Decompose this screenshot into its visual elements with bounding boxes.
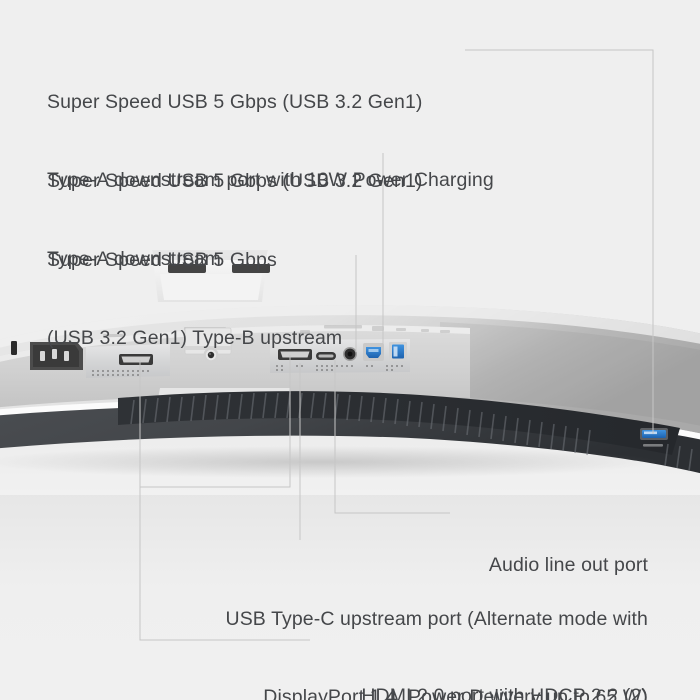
callout-usb-b-upstream-line1: Super Speed USB 5 Gbps	[47, 247, 342, 273]
callout-usb-type-c-line1: USB Type-C upstream port (Alternate mode…	[226, 606, 648, 632]
security-lock-slot	[11, 341, 17, 355]
callout-usb-b-upstream-line2: (USB 3.2 Gen1) Type-B upstream	[47, 325, 342, 351]
usb-type-a-downstream-port	[389, 342, 407, 361]
usb-type-b-upstream-port	[363, 343, 384, 361]
callout-usb-a-charging-line1: Super Speed USB 5 Gbps (USB 3.2 Gen1)	[47, 89, 494, 115]
screenshot-root: Super Speed USB 5 Gbps (USB 3.2 Gen1) Ty…	[0, 0, 700, 700]
callout-hdmi: HDMI 2.0 port with HDCP 2.2 (2)	[361, 631, 648, 700]
audio-line-out-port	[343, 347, 357, 361]
callout-hdmi-line1: HDMI 2.0 port with HDCP 2.2 (2)	[361, 683, 648, 700]
callout-usb-b-upstream: Super Speed USB 5 Gbps (USB 3.2 Gen1) Ty…	[47, 195, 342, 403]
callout-usb-a-downstream-line1: Super Speed USB 5 Gbps (USB 3.2 Gen1)	[47, 168, 423, 194]
usb-side-legend	[643, 444, 663, 447]
